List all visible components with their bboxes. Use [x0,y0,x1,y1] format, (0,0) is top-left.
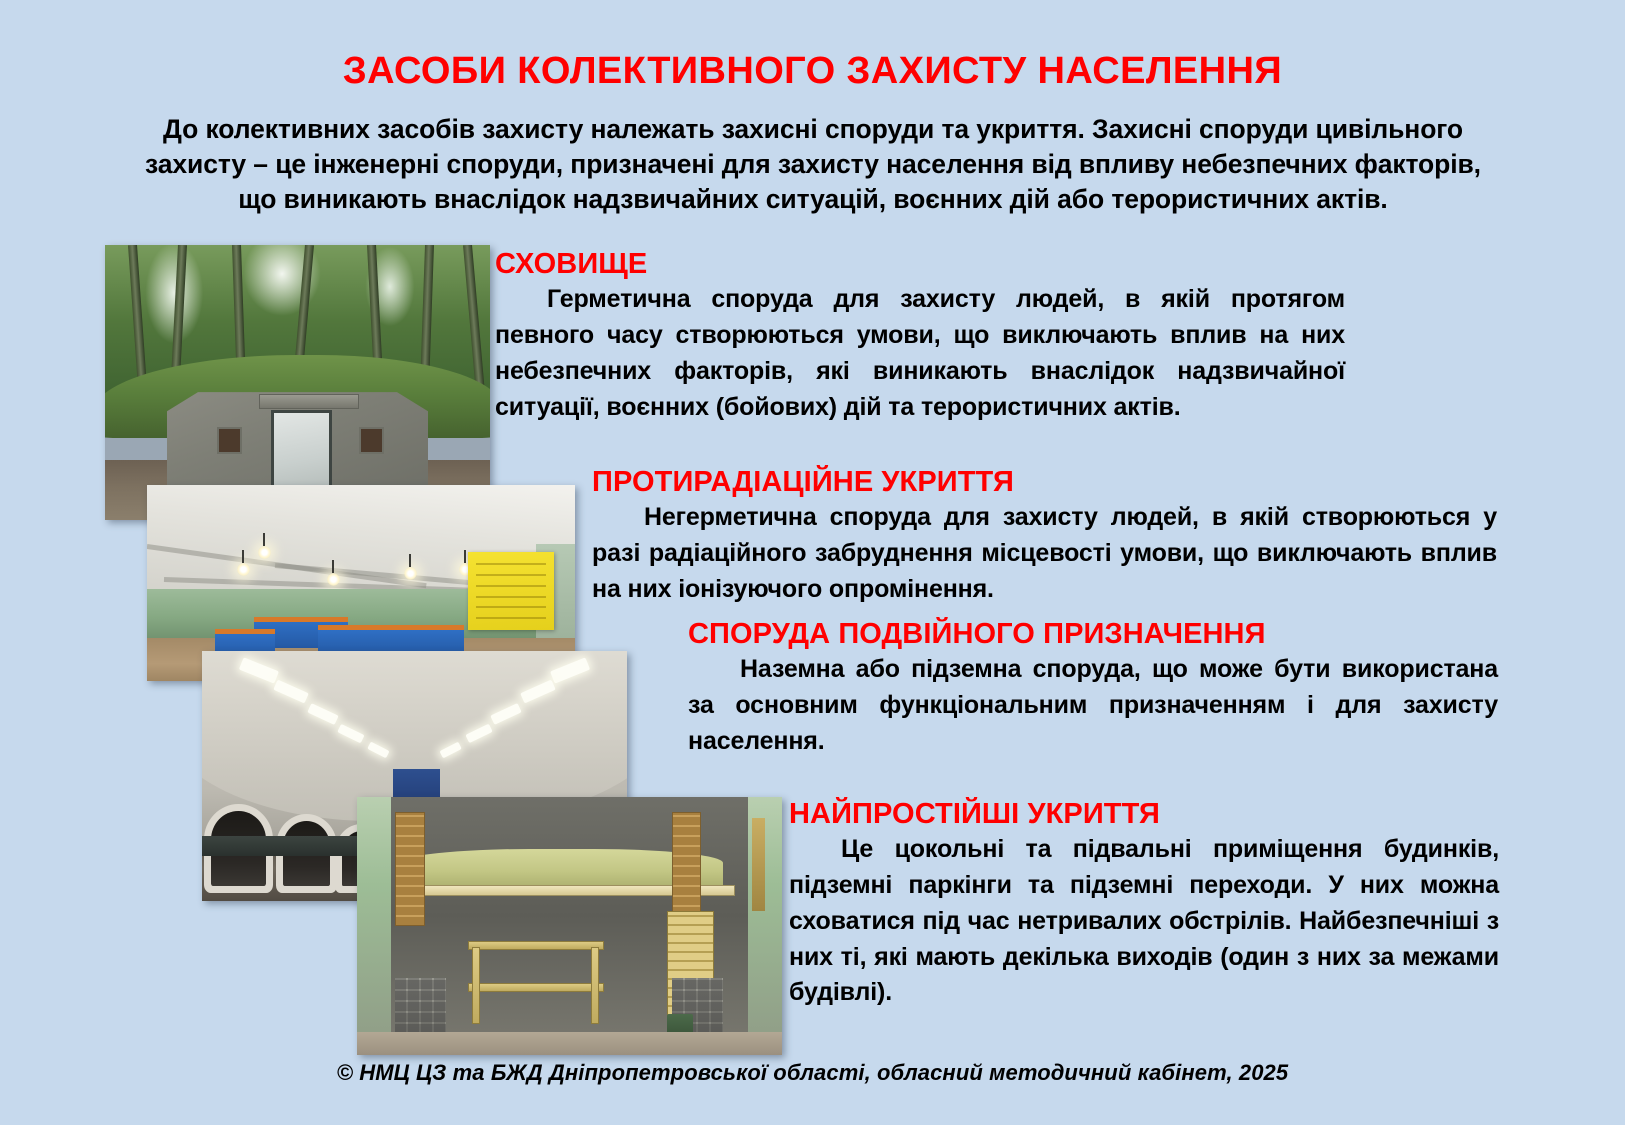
poster-root: ЗАСОБИ КОЛЕКТИВНОГО ЗАХИСТУ НАСЕЛЕННЯ До… [0,0,1625,1125]
metro-plinth [202,836,381,856]
section-shelter-body: Герметична споруда для захисту людей, в … [495,282,1345,425]
diagram-bench-leg [472,947,481,1024]
yellow-notice-board [468,552,554,630]
hanging-lamp-icon [258,546,271,559]
copyright-footer: © НМЦ ЦЗ та БЖД Дніпропетровської област… [0,1060,1625,1086]
photo-bunker-content [105,245,490,520]
section-shelter: СХОВИЩЕ Герметична споруда для захисту л… [495,248,1345,425]
diagram-floor [357,1032,782,1055]
page-title: ЗАСОБИ КОЛЕКТИВНОГО ЗАХИСТУ НАСЕЛЕННЯ [0,52,1625,92]
bunker-window [359,427,384,455]
section-simplest-shelters-body: Це цокольні та підвальні приміщення буди… [789,832,1499,1011]
diagram-bench-leg [591,947,600,1024]
diagram-bench [468,941,604,950]
section-radiation-shelter-body: Негерметична споруда для захисту людей, … [592,500,1497,607]
diagram-post [752,818,765,911]
section-dual-purpose-body: Наземна або підземна споруда, що може бу… [688,652,1498,759]
diagram-brick-column [672,812,702,926]
diagram-bench [468,983,604,992]
photo-bunker-entrance [105,245,490,520]
section-radiation-shelter: ПРОТИРАДІАЦІЙНЕ УКРИТТЯ Негерметична спо… [592,466,1497,608]
section-dual-purpose-heading: СПОРУДА ПОДВІЙНОГО ПРИЗНАЧЕННЯ [688,618,1498,650]
intro-paragraph: До колективних засобів захисту належать … [128,112,1498,218]
bunker-window [217,427,242,455]
photo-simplest-shelter-diagram [357,797,782,1055]
photo-diagram-content [357,797,782,1055]
bunker-lintel [259,394,359,409]
section-radiation-shelter-heading: ПРОТИРАДІАЦІЙНЕ УКРИТТЯ [592,466,1497,498]
section-shelter-heading: СХОВИЩЕ [495,248,1345,280]
section-simplest-shelters: НАЙПРОСТІЙШІ УКРИТТЯ Це цокольні та підв… [789,798,1499,1011]
section-dual-purpose: СПОРУДА ПОДВІЙНОГО ПРИЗНАЧЕННЯ Наземна а… [688,618,1498,760]
diagram-brick-column [395,812,425,926]
section-simplest-shelters-heading: НАЙПРОСТІЙШІ УКРИТТЯ [789,798,1499,830]
hanging-lamp-icon [327,573,340,586]
